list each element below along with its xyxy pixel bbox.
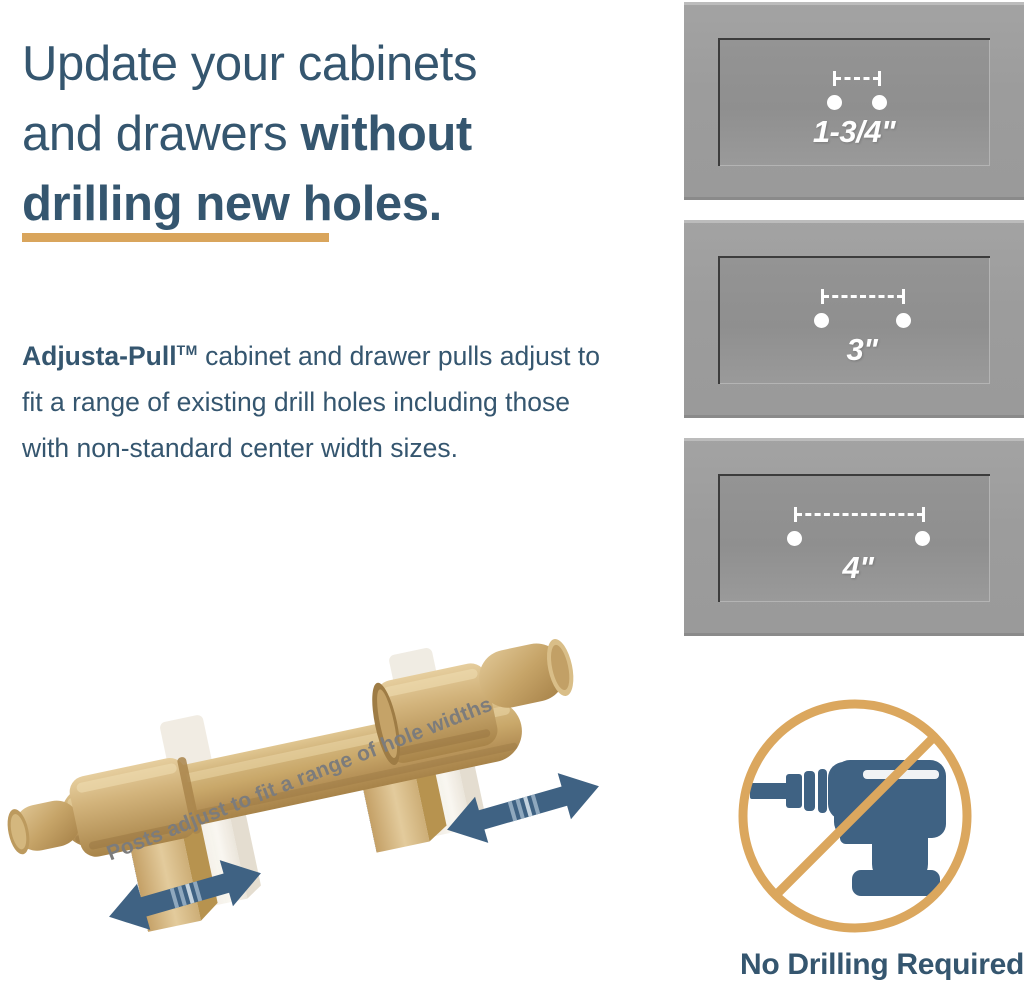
dimension-group: 3" [684,220,1024,418]
trademark-symbol: TM [177,342,198,358]
page-title: Update your cabinets and drawers without… [22,29,622,239]
drill-hole-right [872,95,887,110]
dimension-line [835,77,879,80]
drill-hole-left [787,531,802,546]
dimension-line [796,513,923,516]
dimension-label: 3" [788,332,936,368]
bar-pull-svg [0,540,660,940]
dimension-line [823,295,903,298]
no-drilling-icon [700,692,1010,942]
badge-caption: No Drilling Required [684,948,1024,982]
double-arrow-right-icon [438,768,608,848]
headline-line-2-normal: and drawers [22,107,300,161]
gold-accent-divider [22,233,329,242]
drawer-panel-4: 4" [684,438,1024,636]
panel-bottom-shadow [684,415,1024,418]
panel-bottom-shadow [684,633,1024,636]
body-paragraph: Adjusta-PullTM cabinet and drawer pulls … [22,327,622,472]
headline-line-1: Update your cabinets [22,37,477,91]
drawer-panel-1-3-4: 1-3/4" [684,2,1024,200]
panel-bottom-shadow [684,197,1024,200]
product-illustration [0,540,660,940]
dimension-group: 1-3/4" [684,2,1024,200]
left-content-column: Update your cabinets and drawers without… [0,0,660,991]
dimension-group: 4" [684,438,1024,636]
headline-line-2-bold: without [300,107,471,161]
drill-hole-right [915,531,930,546]
no-drilling-badge [700,692,1010,942]
drill-hole-left [827,95,842,110]
brand-name: Adjusta-Pull [22,340,177,370]
headline-line-3-bold: drilling new holes. [22,177,442,231]
double-arrow-left-icon [100,855,270,935]
drill-hole-right [896,313,911,328]
dimension-label: 1-3/4" [780,114,928,150]
drawer-panel-3: 3" [684,220,1024,418]
infographic-root: Update your cabinets and drawers without… [0,0,1024,991]
dimension-label: 4" [784,550,932,586]
drill-hole-left [814,313,829,328]
